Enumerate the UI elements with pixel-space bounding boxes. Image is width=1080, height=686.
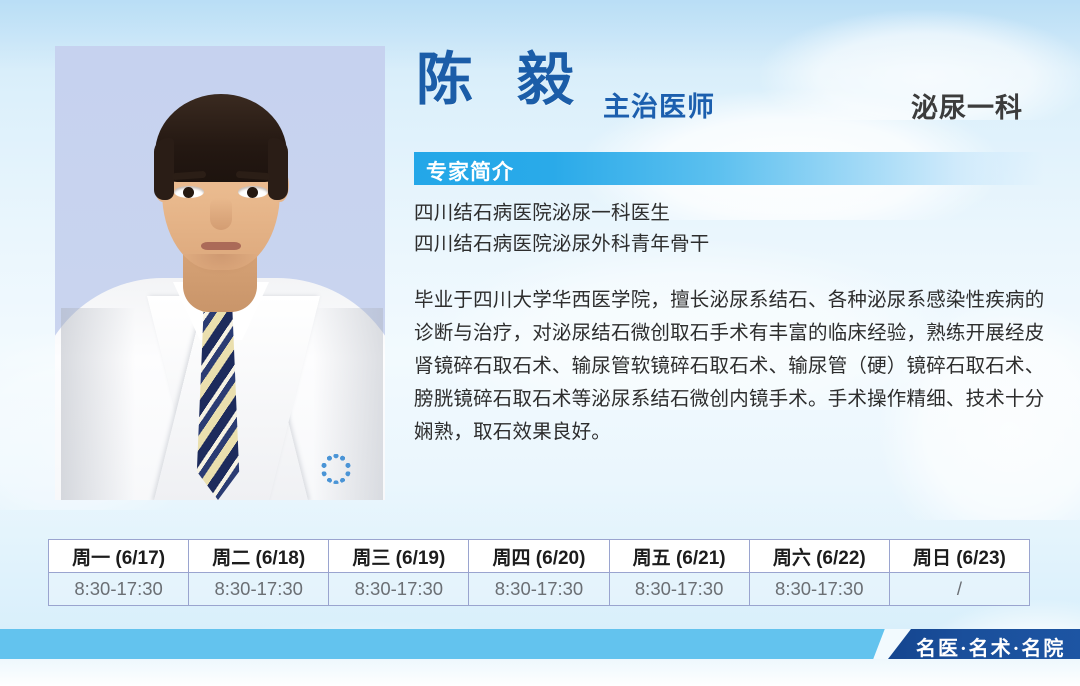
pupil-left	[183, 187, 194, 198]
schedule-day-header: 周二 (6/18)	[189, 540, 329, 573]
pupil-right	[247, 187, 258, 198]
nose	[210, 198, 232, 230]
footer-slogan: 名医·名术·名院	[916, 632, 1065, 661]
bio-spacer	[414, 260, 1050, 284]
footer-banner: 名医·名术·名院	[888, 629, 1080, 659]
doctor-title: 主治医师	[603, 85, 715, 124]
schedule-hours-cell: /	[889, 573, 1029, 606]
table-header-row: 周一 (6/17) 周二 (6/18) 周三 (6/19) 周四 (6/20) …	[49, 540, 1030, 573]
section-header-bar: 专家简介	[414, 152, 1044, 185]
schedule-hours-cell: 8:30-17:30	[749, 573, 889, 606]
section-header-label: 专家简介	[426, 156, 514, 186]
schedule-hours-cell: 8:30-17:30	[189, 573, 329, 606]
doctor-bio: 四川结石病医院泌尿一科医生 四川结石病医院泌尿外科青年骨干 毕业于四川大学华西医…	[414, 198, 1050, 449]
hospital-logo-icon	[321, 454, 351, 484]
hair-side-left	[154, 138, 174, 200]
bio-description: 毕业于四川大学华西医学院，擅长泌尿系结石、各种泌尿系感染性疾病的诊断与治疗，对泌…	[414, 284, 1050, 449]
coat-shadow-left	[61, 308, 135, 500]
mouth	[201, 242, 241, 250]
schedule-day-header: 周六 (6/22)	[749, 540, 889, 573]
bio-credential-line: 四川结石病医院泌尿一科医生	[414, 198, 1050, 229]
schedule-hours-cell: 8:30-17:30	[329, 573, 469, 606]
eye-right	[238, 186, 268, 198]
chin-shadow	[183, 254, 259, 276]
bottom-white-strip	[0, 659, 1080, 686]
bio-credential-line: 四川结石病医院泌尿外科青年骨干	[414, 229, 1050, 260]
doctor-portrait-photo	[55, 46, 385, 500]
department-name: 泌尿一科	[911, 86, 1023, 125]
doctor-name: 陈 毅	[416, 52, 588, 109]
table-row: 8:30-17:30 8:30-17:30 8:30-17:30 8:30-17…	[49, 573, 1030, 606]
hair-side-right	[268, 138, 288, 200]
schedule-day-header: 周四 (6/20)	[469, 540, 609, 573]
schedule-day-header: 周日 (6/23)	[889, 540, 1029, 573]
schedule-hours-cell: 8:30-17:30	[49, 573, 189, 606]
doctor-profile-card: 陈 毅 主治医师 泌尿一科 专家简介 四川结石病医院泌尿一科医生 四川结石病医院…	[0, 0, 1080, 686]
schedule-day-header: 周一 (6/17)	[49, 540, 189, 573]
schedule-hours-cell: 8:30-17:30	[469, 573, 609, 606]
weekly-schedule-table: 周一 (6/17) 周二 (6/18) 周三 (6/19) 周四 (6/20) …	[48, 539, 1030, 606]
schedule-day-header: 周五 (6/21)	[609, 540, 749, 573]
schedule-hours-cell: 8:30-17:30	[609, 573, 749, 606]
eye-left	[174, 186, 204, 198]
schedule-day-header: 周三 (6/19)	[329, 540, 469, 573]
